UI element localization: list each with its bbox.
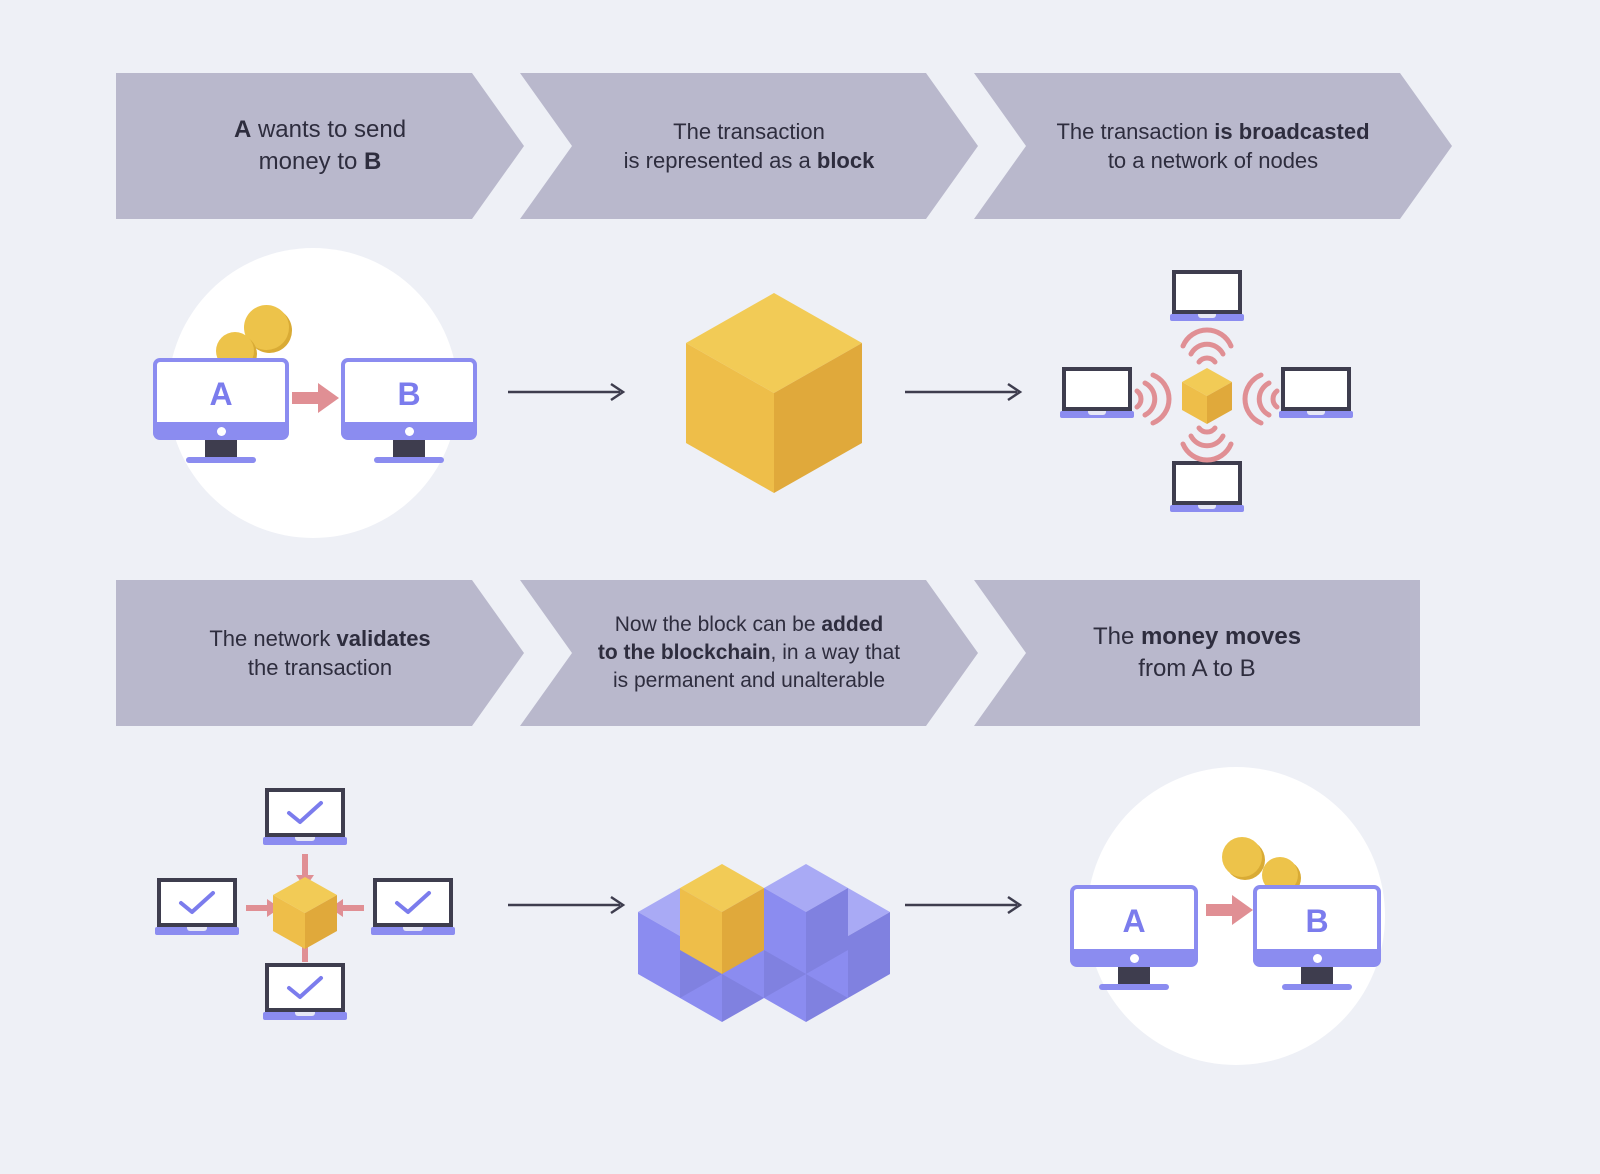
wifi-wave-icon-top [1182, 328, 1232, 364]
monitor-bar [153, 422, 289, 440]
laptop-screen [265, 788, 345, 837]
monitor-screen: A [153, 358, 289, 430]
check-icon [285, 800, 325, 826]
banner-bold: to the blockchain [598, 641, 771, 664]
banner-line: Now the block can be added [598, 611, 900, 639]
laptop-screen [265, 963, 345, 1012]
connector-arrow-1 [508, 382, 628, 402]
banner-line: The network validates [209, 624, 430, 653]
monitor-label: B [397, 378, 420, 410]
monitor-neck [1301, 967, 1333, 984]
laptop-notch [1198, 314, 1216, 318]
pink-arrow-icon [292, 383, 340, 413]
monitor-screen: B [341, 358, 477, 430]
node-laptop-top [1170, 270, 1244, 324]
banner-line: to a network of nodes [1056, 146, 1369, 175]
monitor-label: A [209, 378, 232, 410]
monitor-screen: A [1070, 885, 1198, 957]
monitor-b: B [341, 358, 477, 453]
monitor-base [1282, 984, 1352, 990]
monitor-label: B [1305, 905, 1328, 937]
infographic-canvas: A wants to send money to B The transacti… [0, 0, 1600, 1174]
banner-step-6: The money moves from A to B [974, 580, 1420, 726]
laptop-notch [1088, 411, 1106, 415]
monitor-neck [205, 440, 237, 457]
pink-arrow-icon [1206, 895, 1254, 925]
banner-step-1: A wants to send money to B [116, 73, 524, 219]
monitor-base [1099, 984, 1169, 990]
banner-bold: A [234, 116, 251, 143]
laptop-screen [1281, 367, 1351, 411]
laptop-notch [1307, 411, 1325, 415]
check-icon [177, 890, 217, 916]
node-laptop-left [1060, 367, 1134, 421]
monitor-power-dot [1313, 954, 1322, 963]
connector-arrow-2 [905, 382, 1025, 402]
validator-laptop-top [263, 788, 347, 848]
banner-line: to the blockchain, in a way that [598, 639, 900, 667]
wifi-wave-icon-left [1135, 374, 1171, 424]
banner-bold: added [821, 613, 883, 636]
center-cube-yellow [1182, 368, 1232, 424]
validator-laptop-bottom [263, 963, 347, 1023]
wifi-wave-icon-right [1243, 374, 1279, 424]
banner-line: The transaction is broadcasted [1056, 117, 1369, 146]
laptop-notch [295, 1012, 315, 1016]
banner-bold: is broadcasted [1214, 119, 1369, 144]
check-icon [285, 975, 325, 1001]
illustration-blockchain-cluster [637, 776, 891, 1022]
banner-line: The transaction [624, 117, 875, 146]
monitor-neck [1118, 967, 1150, 984]
banner-line: money to B [234, 146, 406, 178]
illustration-money-moves-a-to-b: A B [1060, 767, 1400, 1067]
laptop-notch [295, 837, 315, 841]
banner-bold: block [817, 148, 874, 173]
node-laptop-right [1279, 367, 1353, 421]
banner-bold: validates [337, 626, 431, 651]
banner-line: is permanent and unalterable [598, 667, 900, 695]
node-laptop-bottom [1170, 461, 1244, 515]
monitor-label: A [1122, 905, 1145, 937]
monitor-neck [393, 440, 425, 457]
banner-line: A wants to send [234, 114, 406, 146]
laptop-notch [187, 927, 207, 931]
monitor-b: B [1253, 885, 1381, 980]
monitor-bar [1070, 949, 1198, 967]
validator-laptop-left [155, 878, 239, 938]
coin-icon [1222, 837, 1262, 877]
illustration-network-validates [155, 788, 455, 1023]
monitor-power-dot [1130, 954, 1139, 963]
monitor-base [374, 457, 444, 463]
connector-arrow-3 [508, 895, 628, 915]
laptop-notch [1198, 505, 1216, 509]
banner-line: is represented as a block [624, 146, 875, 175]
monitor-power-dot [405, 427, 414, 436]
banner-step-4: The network validates the transaction [116, 580, 524, 726]
banner-line: from A to B [1093, 653, 1301, 685]
monitor-a: A [1070, 885, 1198, 980]
banner-line: the transaction [209, 653, 430, 682]
monitor-base [186, 457, 256, 463]
banner-bold: money moves [1141, 623, 1301, 650]
illustration-a-sends-money-to-b: A B [150, 248, 470, 538]
illustration-single-block-cube [686, 293, 862, 493]
banner-step-3: The transaction is broadcasted to a netw… [974, 73, 1452, 219]
monitor-bar [1253, 949, 1381, 967]
laptop-screen [373, 878, 453, 927]
connector-arrow-4 [905, 895, 1025, 915]
laptop-screen [1062, 367, 1132, 411]
banner-step-2: The transaction is represented as a bloc… [520, 73, 978, 219]
center-cube-yellow [273, 877, 337, 949]
laptop-screen [157, 878, 237, 927]
check-icon [393, 890, 433, 916]
monitor-bar [341, 422, 477, 440]
laptop-notch [403, 927, 423, 931]
banner-line: The money moves [1093, 621, 1301, 653]
laptop-screen [1172, 461, 1242, 505]
monitor-a: A [153, 358, 289, 453]
validator-laptop-right [371, 878, 455, 938]
monitor-power-dot [217, 427, 226, 436]
banner-step-5: Now the block can be added to the blockc… [520, 580, 978, 726]
cube-yellow [686, 293, 862, 493]
wifi-wave-icon-bottom [1182, 426, 1232, 462]
illustration-broadcast-to-nodes [1060, 270, 1370, 515]
laptop-screen [1172, 270, 1242, 314]
banner-bold: B [364, 148, 381, 175]
monitor-screen: B [1253, 885, 1381, 957]
